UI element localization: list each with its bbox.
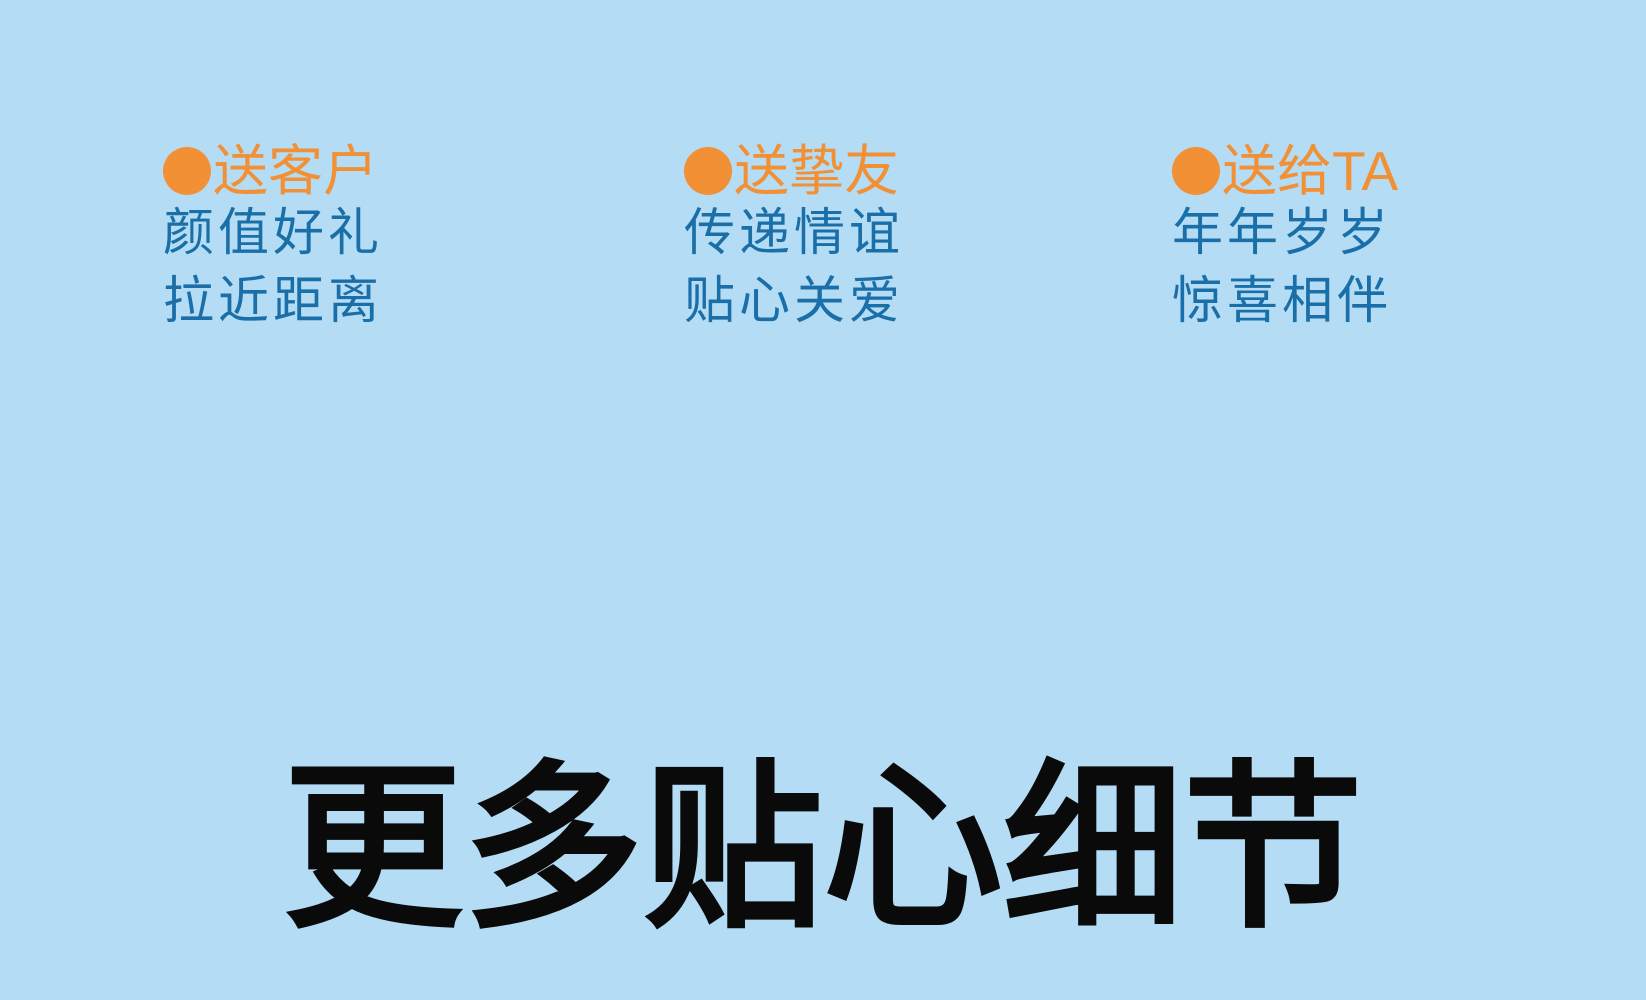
feature-heading-1: 送客户 [163,140,383,202]
feature-line-3-1: 年年岁岁 [1172,202,1398,264]
feature-column-1: 送客户 颜值好礼 拉近距离 [163,140,383,332]
feature-heading-2: 送挚友 [684,140,904,202]
feature-line-3-2: 惊喜相伴 [1172,270,1398,332]
feature-row: 送客户 颜值好礼 拉近距离 送挚友 传递情谊 贴心关爱 送给TA 年年岁岁 惊喜… [0,140,1646,370]
feature-heading-label: 送客户 [213,141,378,201]
feature-column-3: 送给TA 年年岁岁 惊喜相伴 [1172,140,1398,332]
promo-panel: 送客户 颜值好礼 拉近距离 送挚友 传递情谊 贴心关爱 送给TA 年年岁岁 惊喜… [0,0,1646,1000]
feature-column-2: 送挚友 传递情谊 贴心关爱 [684,140,904,332]
bullet-circle-icon [163,147,211,195]
feature-line-2-2: 贴心关爱 [684,270,904,332]
feature-line-1-1: 颜值好礼 [163,202,383,264]
feature-heading-label: 送给TA [1222,141,1398,201]
feature-heading-label: 送挚友 [734,141,899,201]
feature-heading-3: 送给TA [1172,140,1398,202]
feature-line-2-1: 传递情谊 [684,202,904,264]
feature-line-1-2: 拉近距离 [163,270,383,332]
bullet-circle-icon [1172,147,1220,195]
section-headline: 更多贴心细节 [0,745,1646,955]
bullet-circle-icon [684,147,732,195]
